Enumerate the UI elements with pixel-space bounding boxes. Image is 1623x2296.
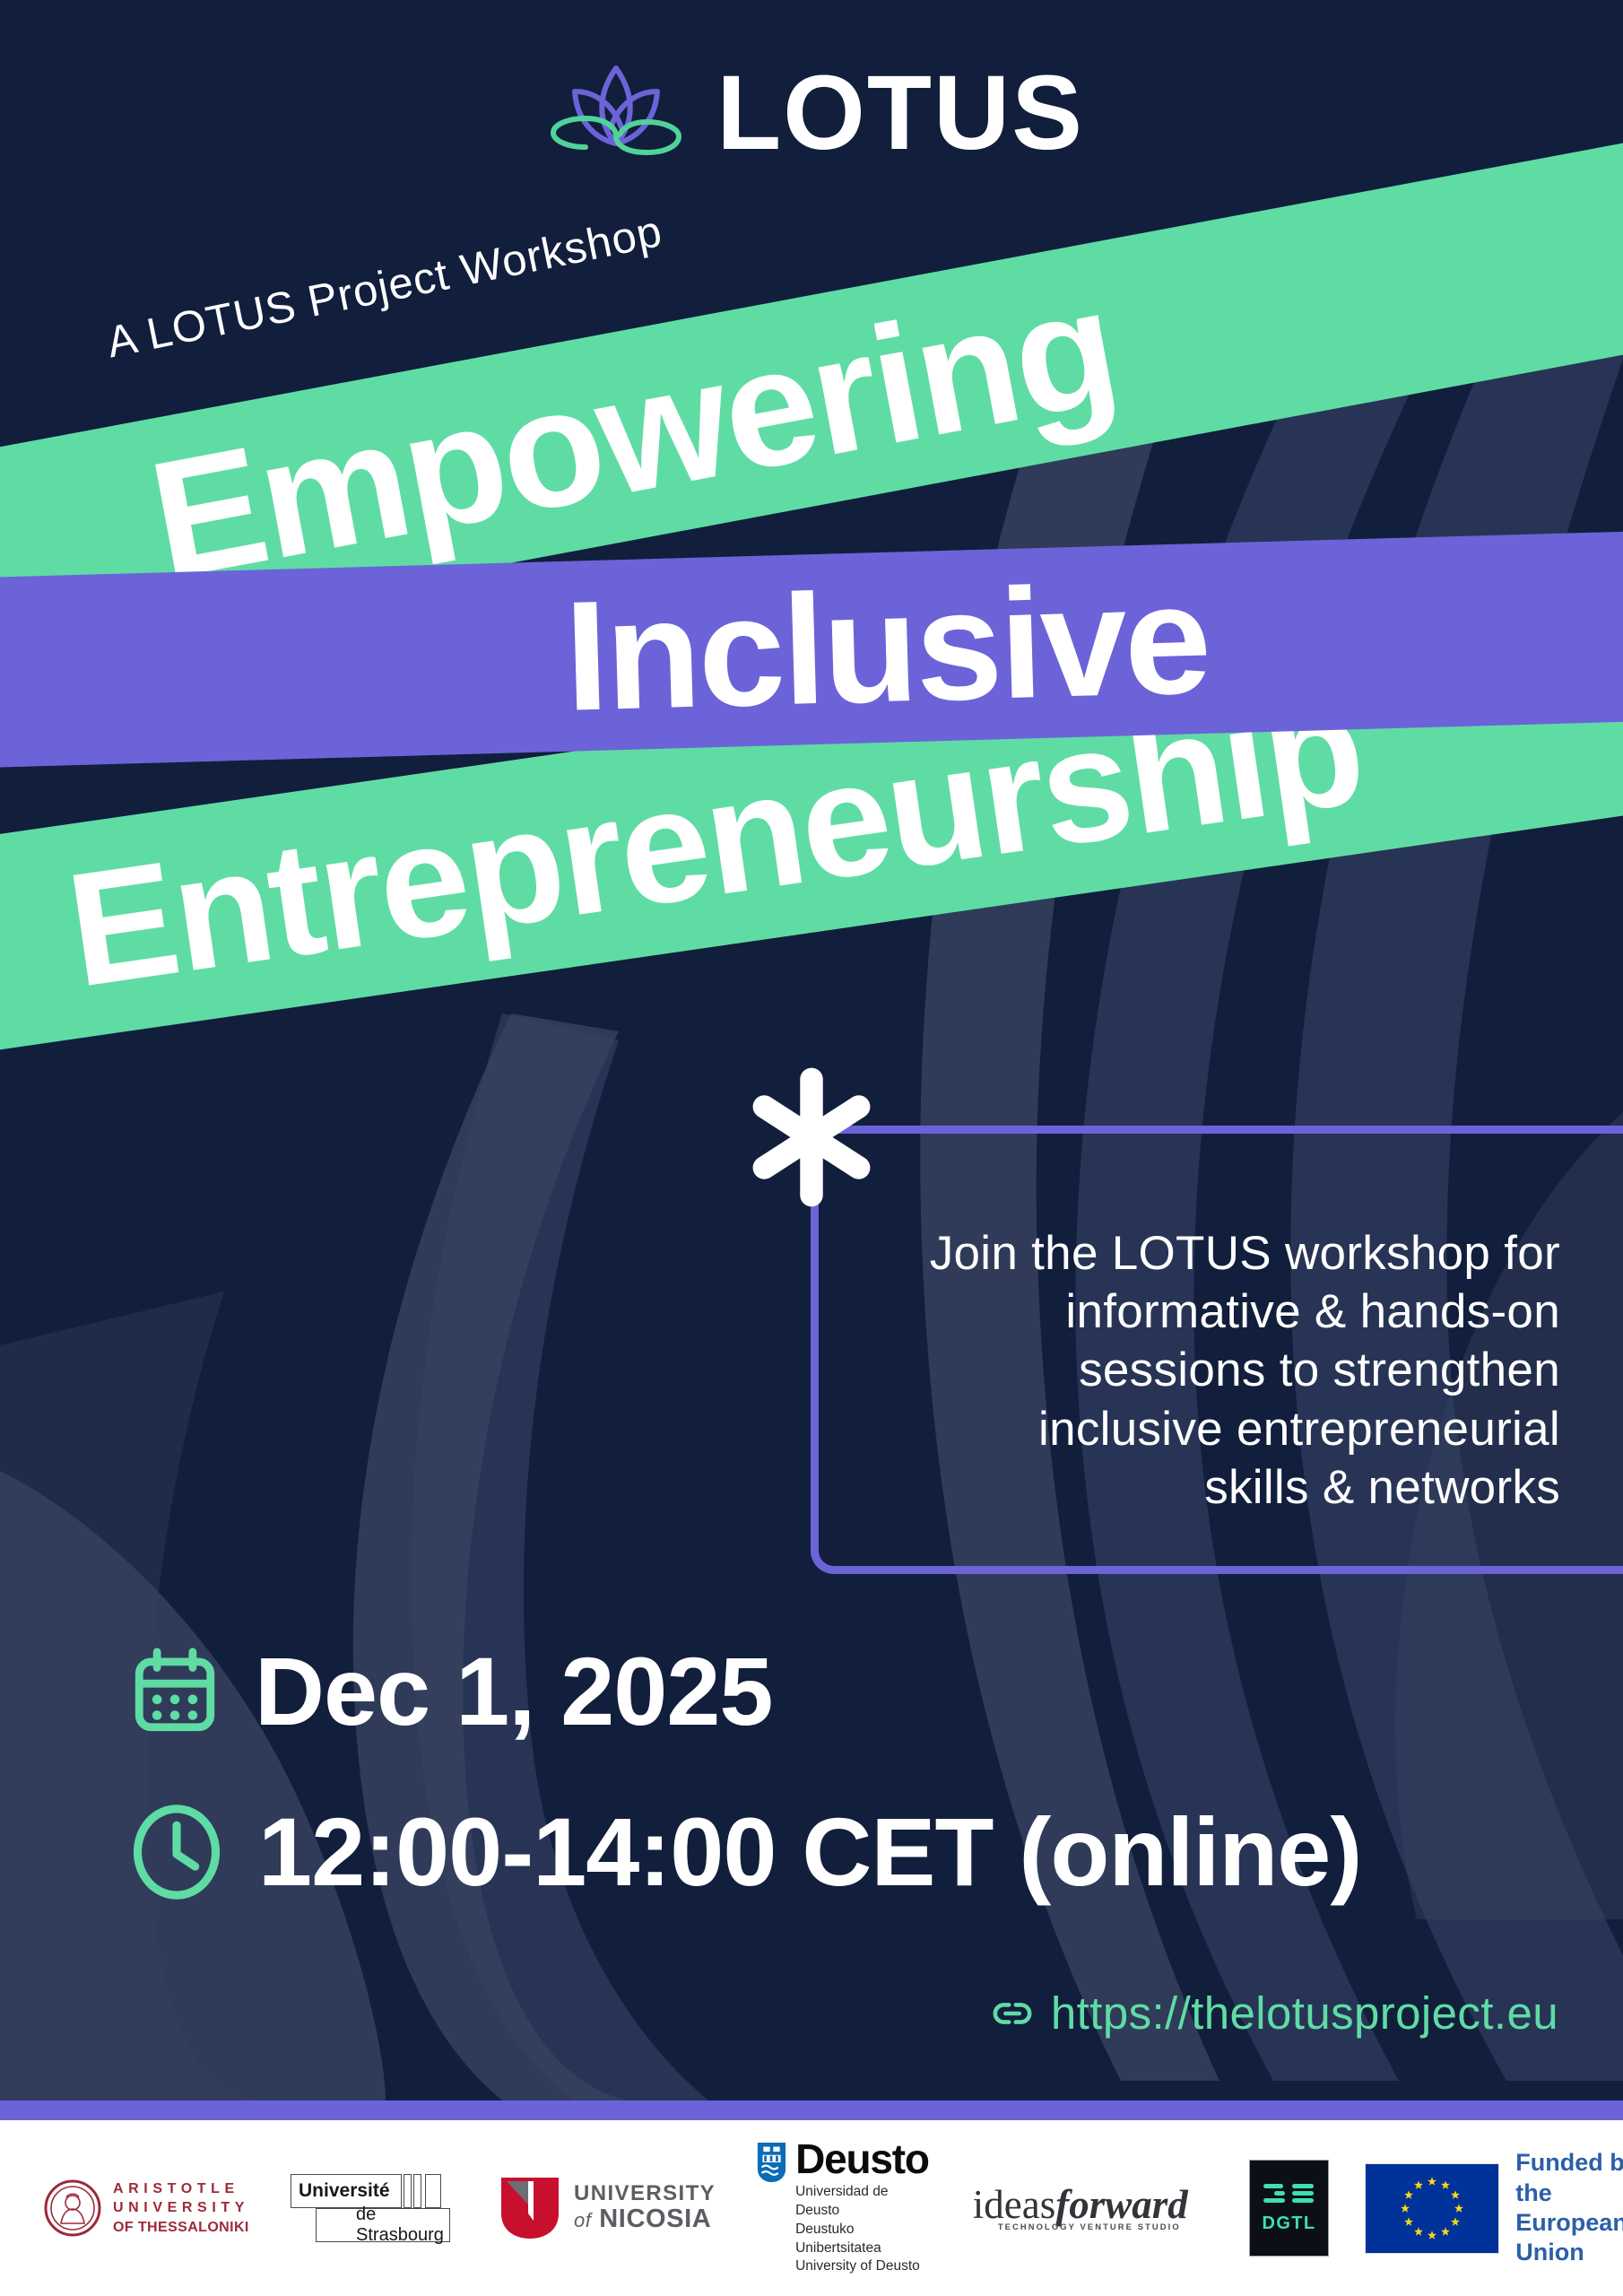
brand-name: LOTUS [716, 60, 1084, 166]
eu-line-1: Funded by the [1515, 2148, 1623, 2208]
deusto-sub-1: Universidad de Deusto [795, 2183, 932, 2221]
ideas-forward-wordmark: ideasforward [973, 2185, 1188, 2225]
aristotle-wordmark: ARISTOTLE UNIVERSITY OF THESSALONIKI [113, 2179, 249, 2236]
eu-line-2: European Union [1515, 2208, 1623, 2268]
footer-logos-bar: ARISTOTLE UNIVERSITY OF THESSALONIKI Uni… [0, 2120, 1623, 2296]
poster-canvas: LOTUS A LOTUS Project Workshop Empowerin… [0, 0, 1623, 2100]
project-url-row[interactable]: https://thelotusproject.eu [992, 1987, 1558, 2039]
logo-28-dgtl: DGTL [1249, 2160, 1330, 2257]
logo-aristotle-university: ARISTOTLE UNIVERSITY OF THESSALONIKI [43, 2179, 249, 2238]
calendar-icon [127, 1644, 222, 1739]
dgtl-mark-icon [1262, 2182, 1317, 2209]
headline-line-2: Inclusive [0, 564, 1211, 749]
deusto-wordmark: Deusto [795, 2140, 932, 2179]
eu-funding-text: Funded by the European Union [1515, 2148, 1623, 2268]
ideas-word-bold: forward [1055, 2182, 1188, 2227]
partner-logos: ARISTOTLE UNIVERSITY OF THESSALONIKI Uni… [0, 2140, 1188, 2277]
logo-university-of-nicosia: UNIVERSITY of NICOSIA [498, 2174, 716, 2242]
deusto-sub-3: University of Deusto [795, 2257, 932, 2276]
deusto-sub-2: Deustuko Unibertsitatea [795, 2221, 932, 2258]
nicosia-wordmark: UNIVERSITY of NICOSIA [574, 2182, 716, 2233]
link-icon [992, 1993, 1033, 2034]
eu-flag-icon [1365, 2163, 1499, 2254]
nicosia-shield-icon [498, 2174, 562, 2242]
ideas-forward-tagline: TECHNOLOGY VENTURE STUDIO [998, 2222, 1188, 2231]
footer-divider [0, 2100, 1623, 2120]
description-text: Join the LOTUS workshop for informative … [924, 1224, 1560, 1517]
deusto-subtitle: Universidad de Deusto Deustuko Unibertsi… [795, 2183, 932, 2276]
dgtl-wordmark: DGTL [1263, 2213, 1316, 2234]
funder-logos: DGTL Funded by the European Union [1249, 2148, 1623, 2268]
lotus-flower-icon [539, 56, 693, 170]
aristotle-line-3: OF THESSALONIKI [113, 2218, 249, 2237]
aristotle-seal-icon [43, 2179, 102, 2238]
strasbourg-line-2: de Strasbourg [316, 2208, 450, 2242]
event-time-row: 12:00-14:00 CET (online) [127, 1803, 1361, 1901]
clock-icon [127, 1803, 226, 1901]
asterisk-icon [735, 1061, 888, 1213]
strasbourg-line-1: Université [291, 2174, 402, 2208]
event-time: 12:00-14:00 CET (online) [258, 1804, 1361, 1900]
nicosia-line-2-prefix: of [574, 2209, 592, 2231]
logo-ideas-forward: ideasforward TECHNOLOGY VENTURE STUDIO [973, 2185, 1188, 2231]
nicosia-line-1: UNIVERSITY [574, 2182, 716, 2205]
deusto-shield-icon [757, 2140, 786, 2185]
logo-university-of-deusto: Deusto Universidad de Deusto Deustuko Un… [757, 2140, 932, 2277]
aristotle-line-1: ARISTOTLE [113, 2179, 249, 2198]
logo-european-union: Funded by the European Union [1365, 2148, 1623, 2268]
brand-logo: LOTUS [0, 56, 1623, 170]
event-date-row: Dec 1, 2025 [127, 1643, 772, 1740]
ideas-word-light: ideas [973, 2182, 1055, 2227]
aristotle-line-2: UNIVERSITY [113, 2198, 249, 2217]
event-date: Dec 1, 2025 [255, 1643, 772, 1740]
project-url[interactable]: https://thelotusproject.eu [1051, 1987, 1558, 2039]
nicosia-line-2: NICOSIA [599, 2205, 711, 2233]
logo-universite-de-strasbourg: Université de Strasbourg [291, 2169, 456, 2248]
